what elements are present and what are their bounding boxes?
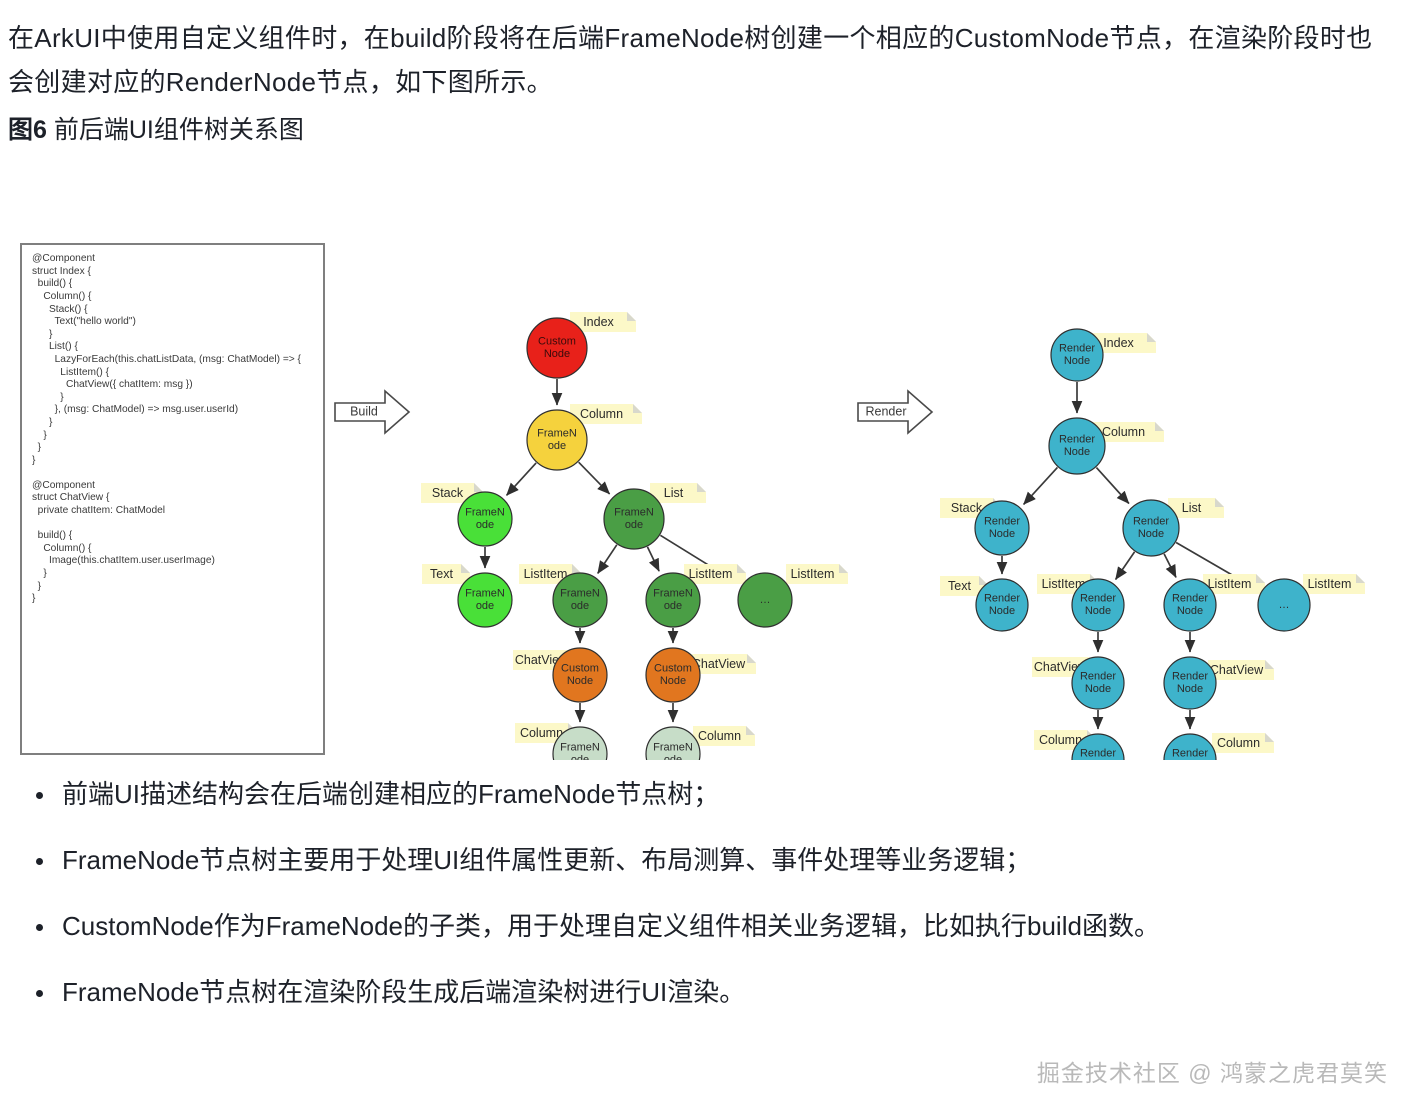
tree-node-f-listitem-2: FrameNode [646, 573, 700, 627]
watermark: 掘金技术社区 @ 鸿蒙之虎君莫笑 [1037, 1054, 1388, 1088]
node-circle-label: ode [664, 600, 682, 612]
tree-node-r-stack: RenderNode [975, 501, 1029, 555]
node-circle-label: Node [660, 675, 686, 687]
node-tag-label: List [664, 486, 684, 500]
tree-node-f-chatview-2: CustomNode [646, 648, 700, 702]
node-circle-label: … [1279, 599, 1290, 611]
node-circle-label: ode [476, 600, 494, 612]
node-tag-label: Text [948, 579, 971, 593]
bullet-item: FrameNode节点树在渲染阶段生成后端渲染树进行UI渲染。 [26, 970, 1376, 1014]
node-circle-label: Node [567, 675, 593, 687]
phase-arrow-build: Build [335, 391, 409, 433]
tree-node-f-stack: FrameNode [458, 492, 512, 546]
tree-node-f-ccolumn-2: FrameNode [646, 727, 700, 760]
node-tag-listitem: ListItem [684, 564, 746, 584]
node-circle-label: Render [984, 593, 1020, 605]
node-tag-label: Column [698, 729, 741, 743]
tree-node-f-column: FrameNode [527, 410, 587, 470]
node-circle-label: Render [1172, 748, 1208, 760]
tree-node-r-column: RenderNode [1049, 418, 1105, 474]
tree-edge [507, 463, 537, 495]
node-circle-label: Node [1085, 605, 1111, 617]
node-tag-label: Column [1217, 736, 1260, 750]
node-tag-listitem: ListItem [1303, 574, 1365, 594]
node-circle-label: Node [1177, 683, 1203, 695]
figure-number: 图6 [8, 116, 47, 144]
node-circle-label: Node [1177, 605, 1203, 617]
node-tag-label: ListItem [524, 567, 568, 581]
node-circle-label: FrameN [560, 742, 600, 754]
node-circle-label: Render [1172, 593, 1208, 605]
node-circle-label: Node [1138, 528, 1164, 540]
node-tag-label: Index [583, 315, 614, 329]
node-tag-label: ListItem [791, 567, 835, 581]
tree-node-r-chatview-2: RenderNode [1164, 657, 1216, 709]
node-circle-label: … [760, 594, 771, 606]
node-circle-label: Render [1059, 343, 1095, 355]
tree-node-r-listitem-2: RenderNode [1164, 579, 1216, 631]
figure-caption: 图6 前后端UI组件树关系图 [8, 112, 304, 148]
arkts-code-block: @Component struct Index { build() { Colu… [20, 243, 325, 755]
node-circle-label: ode [548, 440, 566, 452]
tree-edge [1164, 554, 1176, 577]
node-tag-label: Column [580, 407, 623, 421]
node-tag-label: ChatView [1210, 663, 1264, 677]
node-circle-label: FrameN [465, 507, 505, 519]
tree-edge [1096, 468, 1128, 504]
tree-edge [1116, 552, 1135, 580]
node-circle-label: Custom [561, 663, 599, 675]
node-tag-text: Text [422, 564, 470, 584]
tree-nodes-layer: CustomNodeFrameNodeFrameNodeFrameNodeFra… [458, 318, 1310, 760]
node-circle-label: ode [571, 754, 589, 760]
ui-component-tree-diagram: @Component struct Index { build() { Colu… [0, 150, 1410, 760]
tree-edge [1024, 467, 1058, 504]
tree-node-r-chatview-1: RenderNode [1072, 657, 1124, 709]
figure-title: 前后端UI组件树关系图 [54, 116, 304, 144]
node-tag-chatview: ChatView [1208, 660, 1274, 680]
tree-node-f-index: CustomNode [527, 318, 587, 378]
node-circle-label: FrameN [653, 588, 693, 600]
node-circle-label: Node [544, 348, 570, 360]
node-circle-label: Node [1085, 683, 1111, 695]
node-tag-label: ListItem [1208, 577, 1252, 591]
node-circle-label: ode [476, 519, 494, 531]
node-circle-label: FrameN [537, 428, 577, 440]
node-tag-column: Column [693, 726, 755, 746]
node-circle-label: ode [664, 754, 682, 760]
tree-node-r-text: RenderNode [976, 579, 1028, 631]
phase-label-render: Render [866, 404, 907, 418]
node-tag-label: Column [1039, 733, 1082, 747]
tree-edge [598, 545, 617, 574]
bullet-item: FrameNode节点树主要用于处理UI组件属性更新、布局测算、事件处理等业务逻… [26, 838, 1376, 882]
tree-edge [579, 462, 610, 494]
node-tag-label: Stack [432, 486, 464, 500]
node-circle-label: FrameN [465, 588, 505, 600]
tree-node-r-list: RenderNode [1123, 500, 1179, 556]
node-circle-label: Custom [654, 663, 692, 675]
tree-edge [647, 547, 659, 571]
node-circle-label: Render [1080, 748, 1116, 760]
tree-node-r-index: RenderNode [1051, 329, 1103, 381]
tree-node-r-listitem-1: RenderNode [1072, 579, 1124, 631]
node-tag-label: ListItem [689, 567, 733, 581]
tree-node-f-list: FrameNode [604, 489, 664, 549]
node-tag-label: Index [1103, 336, 1134, 350]
tree-node-r-listitem-3: … [1258, 579, 1310, 631]
bullet-item: 前端UI描述结构会在后端创建相应的FrameNode节点树； [26, 772, 1376, 816]
node-tag-label: ListItem [1308, 577, 1352, 591]
node-circle-label: ode [625, 519, 643, 531]
node-tag-column: Column [1212, 733, 1274, 753]
tree-node-f-listitem-3: … [738, 573, 792, 627]
node-tag-label: ChatView [692, 657, 746, 671]
node-circle-label: FrameN [614, 507, 654, 519]
intro-paragraph: 在ArkUI中使用自定义组件时，在build阶段将在后端FrameNode树创建… [8, 16, 1388, 104]
summary-bullet-list: 前端UI描述结构会在后端创建相应的FrameNode节点树；FrameNode节… [26, 772, 1376, 1036]
node-tag-listitem: ListItem [786, 564, 848, 584]
node-circle-label: Render [1133, 516, 1169, 528]
tree-node-f-text: FrameNode [458, 573, 512, 627]
node-circle-label: ode [571, 600, 589, 612]
tree-node-r-ccolumn-2: RenderNode [1164, 734, 1216, 760]
node-circle-label: Node [989, 528, 1015, 540]
node-circle-label: Render [1080, 671, 1116, 683]
phase-arrow-render: Render [858, 391, 932, 433]
node-circle-label: Custom [538, 336, 576, 348]
node-circle-label: FrameN [560, 588, 600, 600]
node-circle-label: Node [1064, 355, 1090, 367]
node-tag-label: Text [430, 567, 453, 581]
node-circle-label: Render [1172, 671, 1208, 683]
node-tag-label: Column [1102, 425, 1145, 439]
node-tag-label: Stack [951, 501, 983, 515]
node-tag-label: Column [520, 726, 563, 740]
node-tag-label: List [1182, 501, 1202, 515]
node-circle-label: Node [1064, 446, 1090, 458]
tree-node-f-listitem-1: FrameNode [553, 573, 607, 627]
node-circle-label: Render [984, 516, 1020, 528]
node-circle-label: Render [1059, 434, 1095, 446]
node-circle-label: Node [989, 605, 1015, 617]
node-tag-list: List [650, 483, 706, 503]
node-circle-label: Render [1080, 593, 1116, 605]
node-circle-label: FrameN [653, 742, 693, 754]
bullet-item: CustomNode作为FrameNode的子类，用于处理自定义组件相关业务逻辑… [26, 904, 1376, 948]
tree-node-f-chatview-1: CustomNode [553, 648, 607, 702]
phase-label-build: Build [350, 404, 378, 418]
